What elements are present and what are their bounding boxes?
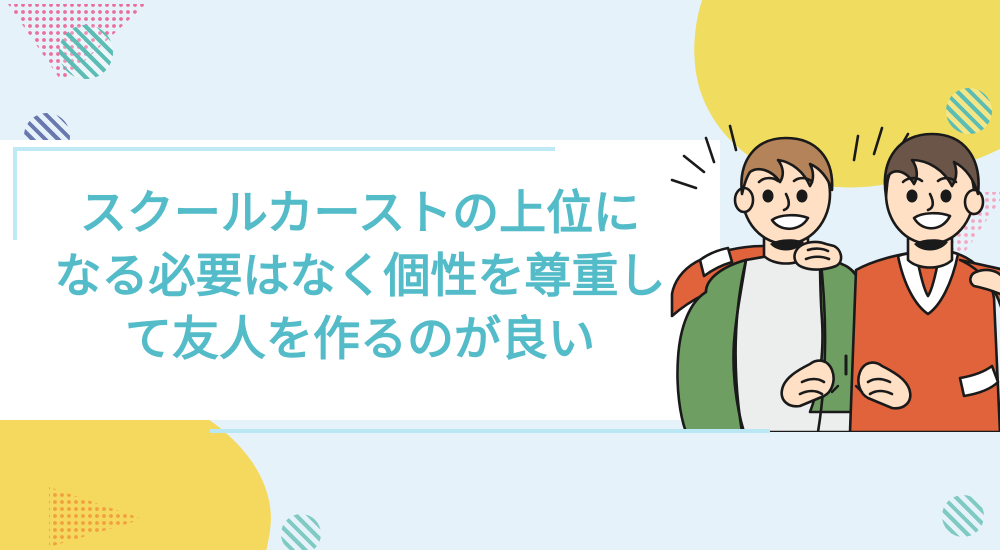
- teal-striped-circle-top-left: [59, 25, 113, 79]
- thumbnail-canvas: スクールカーストの上位に なる必要はなく個性を尊重し て友人を作るのが良い: [0, 0, 1000, 550]
- orange-dotted-triangle-bottom-left: [45, 485, 150, 550]
- yellow-blob-bottom-left-secondary: [0, 430, 240, 550]
- pink-dotted-triangle-top-left: [6, 2, 186, 84]
- illustration-two-friends-fist-bump: [660, 120, 1000, 432]
- card-rule-left: [13, 147, 17, 240]
- card-rule-bottom: [210, 429, 770, 433]
- card-rule-top: [13, 147, 555, 151]
- teal-striped-circle-bottom-center: [281, 514, 321, 550]
- teal-striped-circle-bottom-right: [942, 495, 984, 537]
- page-title: スクールカーストの上位に なる必要はなく個性を尊重し て友人を作るのが良い: [50, 182, 670, 371]
- emphasis-lines-left: [672, 126, 736, 188]
